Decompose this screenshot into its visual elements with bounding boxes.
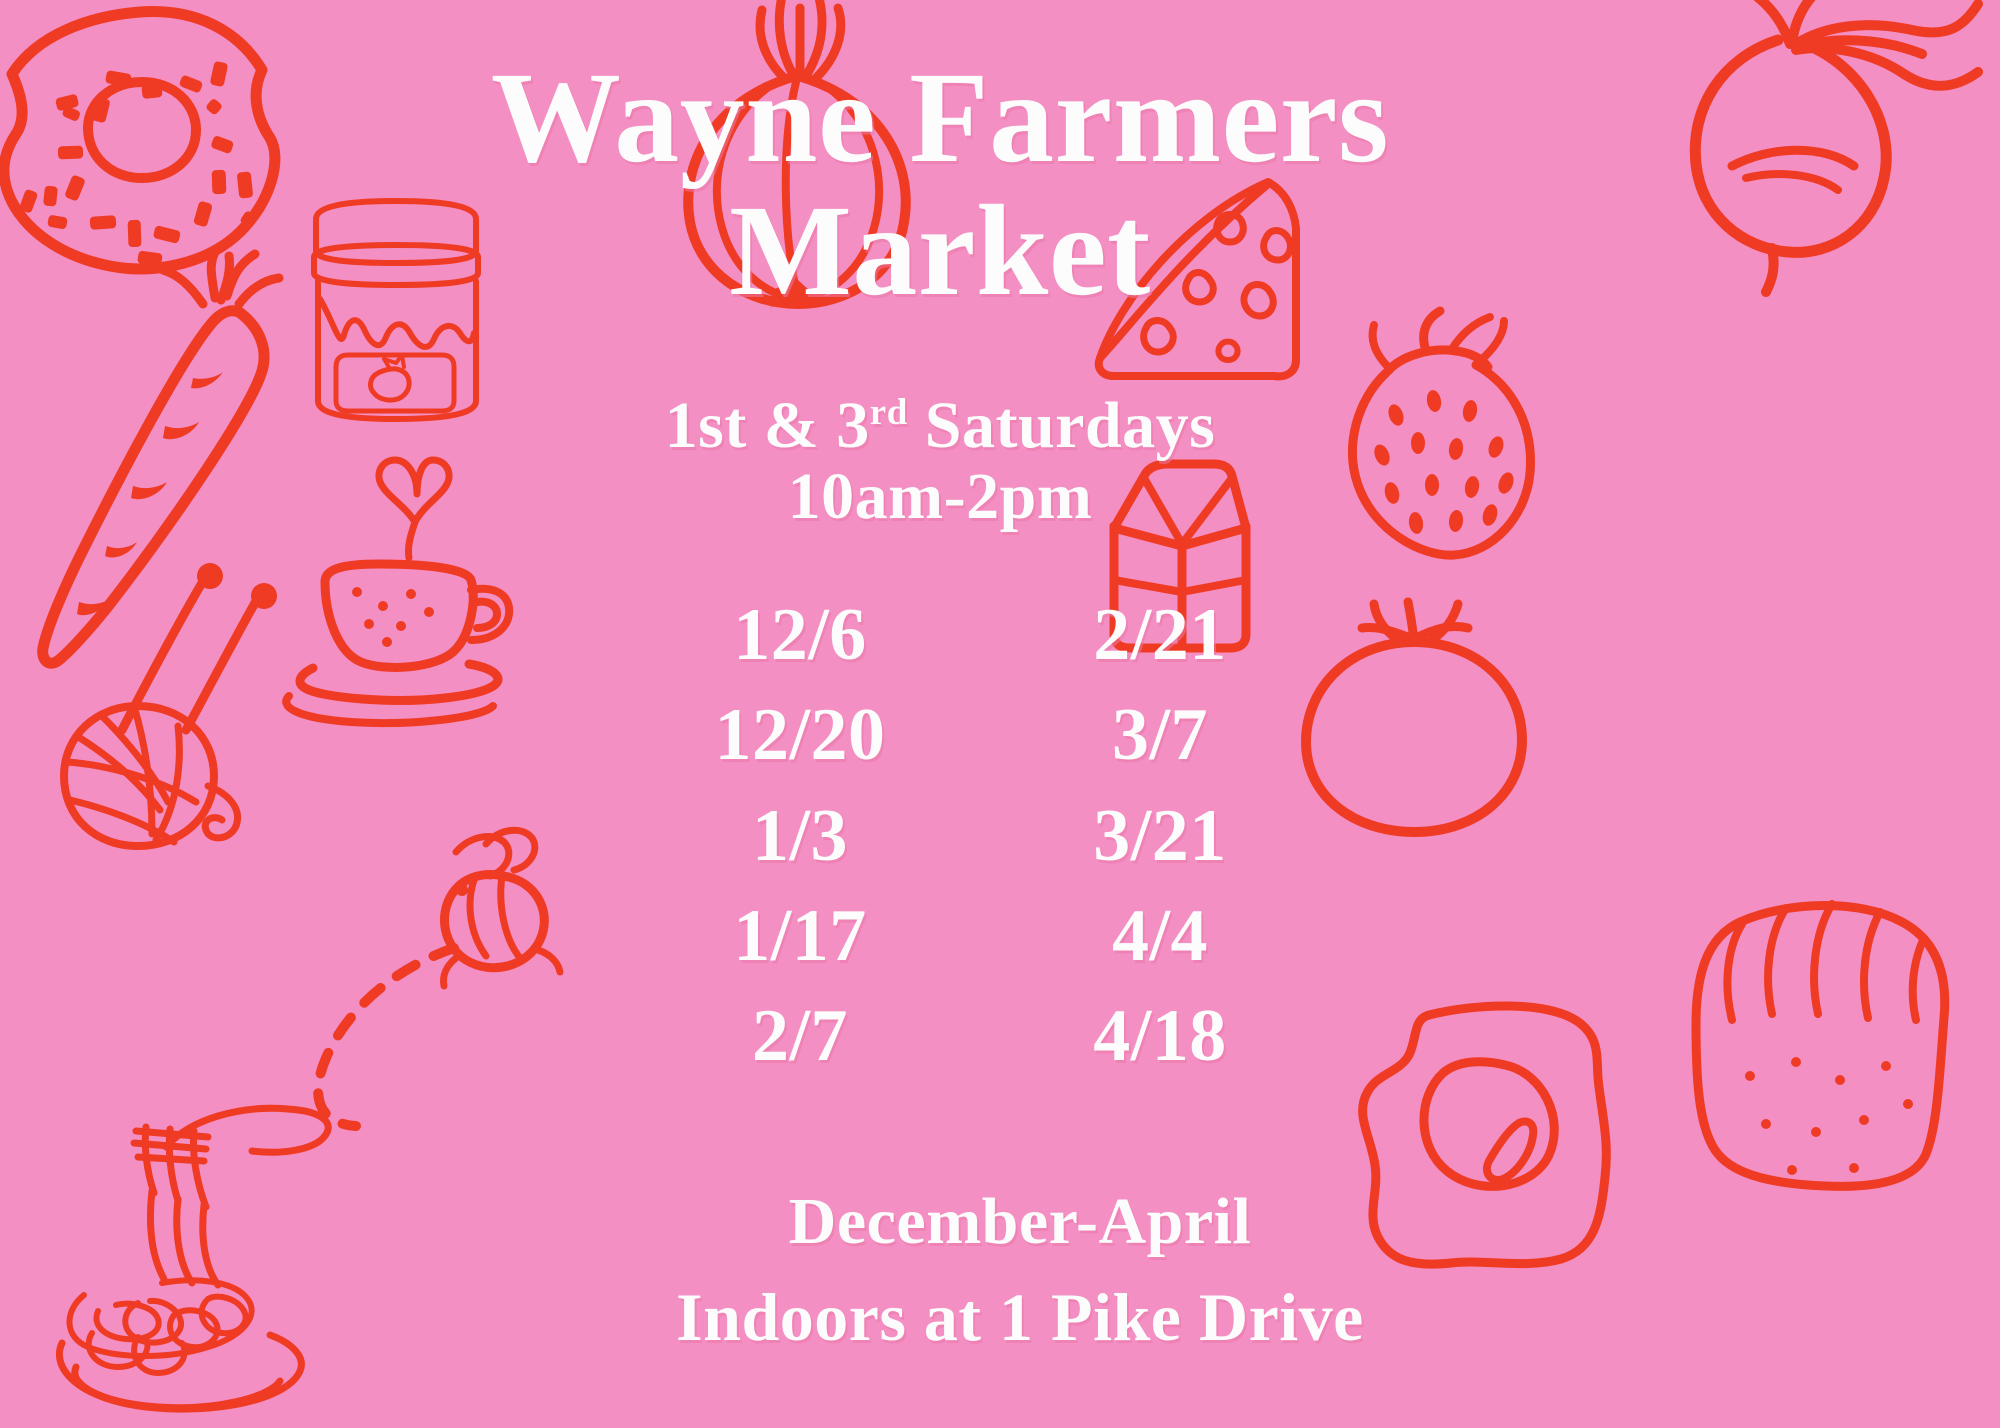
schedule-days-prefix: 1st & 3 (665, 389, 870, 462)
market-date: 4/18 (980, 991, 1340, 1081)
market-date: 12/20 (620, 690, 980, 780)
market-dates-list: 12/6 2/21 12/20 3/7 1/3 3/21 1/17 4/4 2/… (620, 590, 1340, 1081)
schedule-hours: 10am-2pm (440, 461, 1440, 532)
page-title: Wayne Farmers Market (340, 52, 1540, 317)
schedule-ordinal-suffix: rd (870, 391, 908, 432)
title-line-2: Market (340, 185, 1540, 318)
market-date: 2/21 (980, 590, 1340, 680)
market-date: 12/6 (620, 590, 980, 680)
market-date: 2/7 (620, 991, 980, 1081)
title-line-1: Wayne Farmers (491, 46, 1389, 190)
schedule-text: 1st & 3rd Saturdays 10am-2pm (440, 390, 1440, 533)
market-date: 3/7 (980, 690, 1340, 780)
schedule-days-suffix: Saturdays (908, 389, 1216, 462)
poster-content: Wayne Farmers Market 1st & 3rd Saturdays… (0, 0, 2000, 1428)
venue-address: Indoors at 1 Pike Drive (400, 1269, 1640, 1366)
market-date: 1/3 (620, 791, 980, 881)
market-date: 3/21 (980, 791, 1340, 881)
market-date: 4/4 (980, 891, 1340, 981)
season-range: December-April (789, 1185, 1252, 1258)
farmers-market-poster: Wayne Farmers Market 1st & 3rd Saturdays… (0, 0, 2000, 1428)
market-date: 1/17 (620, 891, 980, 981)
footer-text: December-April Indoors at 1 Pike Drive (400, 1175, 1640, 1365)
